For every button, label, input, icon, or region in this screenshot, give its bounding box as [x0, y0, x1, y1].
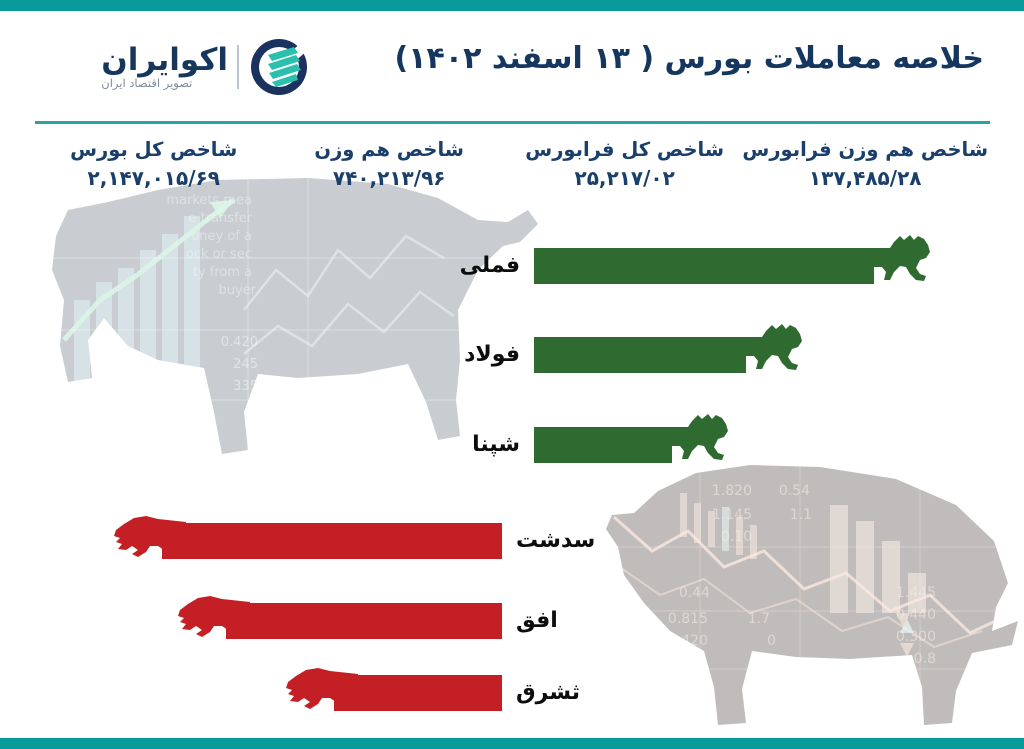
index-cell-farabourse-total: شاخص کل فرابورس ۲۵,۲۱۷/۰۲ — [507, 137, 742, 192]
bar-label: ثشرق — [516, 665, 580, 721]
chart-row-loser: افق — [182, 593, 502, 649]
index-label: شاخص کل فرابورس — [507, 137, 742, 163]
index-cell-equal-weight: شاخص هم وزن ۷۴۰,۲۱۳/۹۶ — [271, 137, 506, 192]
index-value: ۷۴۰,۲۱۳/۹۶ — [271, 165, 506, 192]
index-value: ۱۳۷,۴۸۵/۲۸ — [742, 165, 988, 192]
index-cell-total: شاخص کل بورس ۲,۱۴۷,۰۱۵/۶۹ — [36, 137, 271, 192]
logo-divider — [237, 45, 239, 89]
bar-label: شپنا — [472, 417, 520, 473]
index-label: شاخص هم وزن فرابورس — [742, 137, 988, 163]
header-divider — [35, 121, 990, 124]
index-value: ۲۵,۲۱۷/۰۲ — [507, 165, 742, 192]
logo-title: اکوایران — [101, 44, 228, 77]
chart-row-loser: ثشرق — [290, 665, 502, 721]
bar-label: فولاد — [464, 327, 520, 383]
bull-icon — [860, 234, 932, 290]
bull-icon — [732, 323, 804, 379]
index-cell-farabourse-equal-weight: شاخص هم وزن فرابورس ۱۳۷,۴۸۵/۲۸ — [742, 137, 988, 192]
chart-row-gainer: فملی — [534, 238, 920, 294]
logo-subtitle: تصویر اقتصاد ایران — [101, 77, 192, 90]
effect-bar-chart: فملی فولاد شپنا — [0, 210, 1024, 720]
eco-iran-swoosh-icon — [248, 36, 310, 98]
page-title: خلاصه معاملات بورس ( ۱۳ اسفند ۱۴۰۲) — [364, 40, 984, 78]
chart-row-loser: سدشت — [118, 513, 502, 569]
bear-icon — [112, 510, 186, 564]
bear-icon — [284, 662, 358, 716]
bar-label: سدشت — [516, 513, 595, 569]
bear-icon — [176, 590, 250, 644]
bull-icon — [658, 413, 730, 469]
bar-label: افق — [516, 593, 558, 649]
brand-logo[interactable]: اکوایران تصویر اقتصاد ایران — [38, 31, 310, 103]
top-accent-bar — [0, 0, 1024, 11]
index-value: ۲,۱۴۷,۰۱۵/۶۹ — [36, 165, 271, 192]
index-label: شاخص کل بورس — [36, 137, 271, 163]
chart-row-gainer: فولاد — [534, 327, 790, 383]
index-label: شاخص هم وزن — [271, 137, 506, 163]
infographic-canvas: markets mea e transfer oney of a ock or … — [0, 0, 1024, 749]
bottom-accent-bar — [0, 738, 1024, 749]
logo-wordmark: اکوایران تصویر اقتصاد ایران — [101, 44, 228, 90]
index-summary-strip: شاخص هم وزن فرابورس ۱۳۷,۴۸۵/۲۸ شاخص کل ف… — [0, 137, 1024, 203]
bar-label: فملی — [460, 238, 520, 294]
chart-row-gainer: شپنا — [534, 417, 714, 473]
